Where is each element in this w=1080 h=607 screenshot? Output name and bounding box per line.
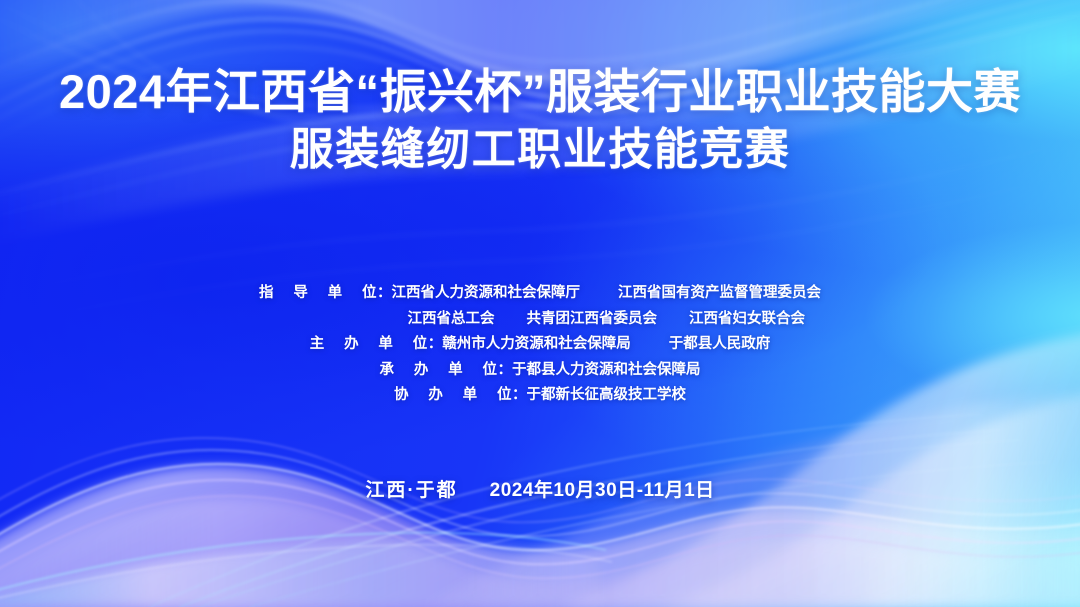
organizer-names: 赣州市人力资源和社会保障局于都县人民政府 <box>442 337 770 352</box>
organizer-colon: ： <box>428 337 443 352</box>
poster-title: 2024年江西省“振兴杯”服装行业职业技能大赛 服装缝纫工职业技能竞赛 <box>0 66 1080 174</box>
organizer-name: 于都新长征高级技工学校 <box>527 388 687 403</box>
organizer-role-label: 承 办 单 位 <box>380 363 498 378</box>
organizer-name: 赣州市人力资源和社会保障局 <box>442 337 631 352</box>
organizer-label-wrap: 协 办 单 位： <box>394 388 527 403</box>
organizer-row: 指 导 单 位：江西省总工会共青团江西省委员会江西省妇女联合会 <box>0 312 1080 327</box>
organizer-row: 主 办 单 位：赣州市人力资源和社会保障局于都县人民政府 <box>0 337 1080 352</box>
event-dates: 2024年10月30日-11月1日 <box>490 480 715 501</box>
organizer-names: 于都新长征高级技工学校 <box>527 388 687 403</box>
organizer-name: 共青团江西省委员会 <box>527 312 658 327</box>
organizer-colon: ： <box>498 363 513 378</box>
organizer-role-label: 主 办 单 位 <box>310 337 428 352</box>
organizer-name: 江西省国有资产监督管理委员会 <box>618 286 821 301</box>
organizer-colon: ： <box>377 286 392 301</box>
organizer-label-wrap: 指 导 单 位： <box>259 286 392 301</box>
organizer-names: 于都县人力资源和社会保障局 <box>512 363 701 378</box>
event-location: 江西·于都 <box>365 480 457 501</box>
title-line-1: 2024年江西省“振兴杯”服装行业职业技能大赛 <box>0 66 1080 119</box>
organizer-list: 指 导 单 位：江西省人力资源和社会保障厅江西省国有资产监督管理委员会指 导 单… <box>0 286 1080 414</box>
event-poster: 2024年江西省“振兴杯”服装行业职业技能大赛 服装缝纫工职业技能竞赛 指 导 … <box>0 0 1080 607</box>
organizer-row: 协 办 单 位：于都新长征高级技工学校 <box>0 388 1080 403</box>
organizer-label-wrap: 承 办 单 位： <box>380 363 513 378</box>
organizer-colon: ： <box>512 388 527 403</box>
organizer-names: 江西省总工会共青团江西省委员会江西省妇女联合会 <box>408 312 806 327</box>
organizer-name: 江西省妇女联合会 <box>689 312 805 327</box>
footer-line: 江西·于都2024年10月30日-11月1日 <box>0 475 1080 502</box>
organizer-row: 承 办 单 位：于都县人力资源和社会保障局 <box>0 363 1080 378</box>
organizer-role-label: 指 导 单 位 <box>259 286 377 301</box>
organizer-name: 江西省人力资源和社会保障厅 <box>392 286 581 301</box>
organizer-name: 于都县人民政府 <box>669 337 771 352</box>
title-line-2: 服装缝纫工职业技能竞赛 <box>0 125 1080 174</box>
organizer-role-label: 协 办 单 位 <box>394 388 512 403</box>
organizer-name: 于都县人力资源和社会保障局 <box>512 363 701 378</box>
organizer-name: 江西省总工会 <box>408 312 495 327</box>
organizer-label-wrap: 主 办 单 位： <box>310 337 443 352</box>
organizer-row: 指 导 单 位：江西省人力资源和社会保障厅江西省国有资产监督管理委员会 <box>0 286 1080 301</box>
organizer-names: 江西省人力资源和社会保障厅江西省国有资产监督管理委员会 <box>392 286 822 301</box>
